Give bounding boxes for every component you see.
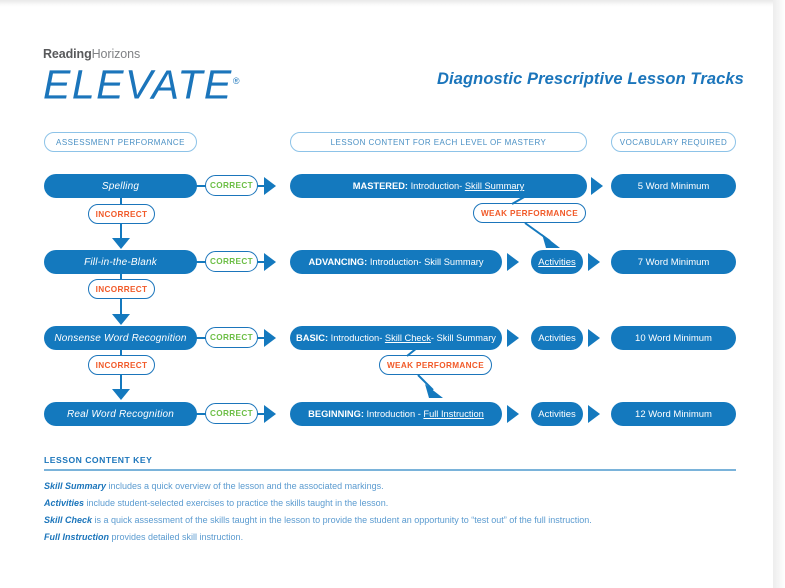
page-top-edge bbox=[0, 0, 773, 7]
lesson-text-4: Introduction - bbox=[364, 409, 423, 419]
lesson-link-skill-summary[interactable]: Skill Summary bbox=[465, 181, 524, 191]
lesson-link-skill-check[interactable]: Skill Check bbox=[385, 333, 431, 343]
brand-logo: ReadingHorizons ELEVATE® bbox=[43, 48, 239, 106]
brand-name-bold: Reading bbox=[43, 47, 92, 61]
lesson-text-3b: - Skill Summary bbox=[431, 333, 496, 343]
trademark-icon: ® bbox=[233, 76, 240, 86]
correct-pill-row-2[interactable]: CORRECT bbox=[205, 251, 258, 272]
assessment-pill-real-word-recognition[interactable]: Real Word Recognition bbox=[44, 402, 197, 426]
weak-performance-connector-1 bbox=[480, 196, 590, 256]
key-text-full-instruction: provides detailed skill instruction. bbox=[109, 532, 243, 542]
product-name-text: ELEVATE bbox=[43, 62, 233, 108]
activities-link-row-2[interactable]: Activities bbox=[538, 257, 575, 268]
key-term-skill-summary: Skill Summary bbox=[44, 481, 106, 491]
activities-pill-row-2[interactable]: Activities bbox=[531, 250, 583, 274]
key-entry-activities: Activities include student-selected exer… bbox=[44, 498, 388, 508]
activities-pill-row-3[interactable]: Activities bbox=[531, 326, 583, 350]
lesson-level-label-3: BASIC: bbox=[296, 333, 328, 343]
lesson-level-label-2: ADVANCING: bbox=[309, 257, 368, 267]
document-page: ReadingHorizons ELEVATE® Diagnostic Pres… bbox=[0, 0, 773, 588]
arrow-down-row-3 bbox=[112, 389, 130, 400]
incorrect-pill-row-3[interactable]: INCORRECT bbox=[88, 355, 155, 375]
lesson-text-1: Introduction- bbox=[408, 181, 465, 191]
arrow-right-row-2-vocab bbox=[588, 253, 600, 271]
arrow-down-row-2 bbox=[112, 314, 130, 325]
weak-performance-connector-2 bbox=[385, 348, 495, 404]
arrow-right-row-4-activities bbox=[507, 405, 519, 423]
assessment-pill-spelling[interactable]: Spelling bbox=[44, 174, 197, 198]
lesson-text-3a: Introduction- bbox=[328, 333, 385, 343]
lesson-content-key-title: LESSON CONTENT KEY bbox=[44, 455, 152, 465]
lesson-text-2: Introduction- Skill Summary bbox=[367, 257, 483, 267]
key-entry-skill-summary: Skill Summary includes a quick overview … bbox=[44, 481, 384, 491]
key-term-skill-check: Skill Check bbox=[44, 515, 92, 525]
correct-pill-row-3[interactable]: CORRECT bbox=[205, 327, 258, 348]
key-text-activities: include student-selected exercises to pr… bbox=[84, 498, 388, 508]
vocabulary-pill-row-3[interactable]: 10 Word Minimum bbox=[611, 326, 736, 350]
incorrect-pill-row-1[interactable]: INCORRECT bbox=[88, 204, 155, 224]
key-entry-skill-check: Skill Check is a quick assessment of the… bbox=[44, 515, 592, 525]
brand-name-light: Horizons bbox=[92, 47, 141, 61]
correct-pill-row-1[interactable]: CORRECT bbox=[205, 175, 258, 196]
vocabulary-pill-row-1[interactable]: 5 Word Minimum bbox=[611, 174, 736, 198]
vocabulary-pill-row-2[interactable]: 7 Word Minimum bbox=[611, 250, 736, 274]
column-header-assessment-performance: ASSESSMENT PERFORMANCE bbox=[44, 132, 197, 152]
arrow-right-row-1-lesson bbox=[264, 177, 276, 195]
lesson-pill-mastered[interactable]: MASTERED: Introduction- Skill Summary bbox=[290, 174, 587, 198]
arrow-down-row-1 bbox=[112, 238, 130, 249]
lesson-pill-advancing[interactable]: ADVANCING: Introduction- Skill Summary bbox=[290, 250, 502, 274]
arrow-right-row-3-activities bbox=[507, 329, 519, 347]
arrow-right-row-3-vocab bbox=[588, 329, 600, 347]
column-header-vocabulary-required: VOCABULARY REQUIRED bbox=[611, 132, 736, 152]
page-right-edge bbox=[773, 0, 785, 588]
page-title: Diagnostic Prescriptive Lesson Tracks bbox=[437, 70, 767, 89]
lesson-pill-basic[interactable]: BASIC: Introduction- Skill Check- Skill … bbox=[290, 326, 502, 350]
vocabulary-pill-row-4[interactable]: 12 Word Minimum bbox=[611, 402, 736, 426]
assessment-pill-nonsense-word-recognition[interactable]: Nonsense Word Recognition bbox=[44, 326, 197, 350]
correct-pill-row-4[interactable]: CORRECT bbox=[205, 403, 258, 424]
key-text-skill-check: is a quick assessment of the skills taug… bbox=[92, 515, 592, 525]
key-text-skill-summary: includes a quick overview of the lesson … bbox=[106, 481, 384, 491]
arrow-right-row-1-vocab bbox=[591, 177, 603, 195]
key-divider bbox=[44, 469, 736, 471]
arrow-right-row-4-vocab bbox=[588, 405, 600, 423]
arrow-right-row-2-lesson bbox=[264, 253, 276, 271]
assessment-pill-fill-in-the-blank[interactable]: Fill-in-the-Blank bbox=[44, 250, 197, 274]
column-header-lesson-content: LESSON CONTENT FOR EACH LEVEL OF MASTERY bbox=[290, 132, 587, 152]
lesson-level-label-4: BEGINNING: bbox=[308, 409, 364, 419]
activities-pill-row-4[interactable]: Activities bbox=[531, 402, 583, 426]
key-entry-full-instruction: Full Instruction provides detailed skill… bbox=[44, 532, 243, 542]
lesson-level-label-1: MASTERED: bbox=[353, 181, 408, 191]
key-term-activities: Activities bbox=[44, 498, 84, 508]
arrow-right-row-2-activities bbox=[507, 253, 519, 271]
arrow-right-row-4-lesson bbox=[264, 405, 276, 423]
arrow-right-row-3-lesson bbox=[264, 329, 276, 347]
product-name: ELEVATE® bbox=[43, 60, 239, 106]
lesson-pill-beginning[interactable]: BEGINNING: Introduction - Full Instructi… bbox=[290, 402, 502, 426]
incorrect-pill-row-2[interactable]: INCORRECT bbox=[88, 279, 155, 299]
key-term-full-instruction: Full Instruction bbox=[44, 532, 109, 542]
lesson-link-full-instruction[interactable]: Full Instruction bbox=[423, 409, 483, 419]
